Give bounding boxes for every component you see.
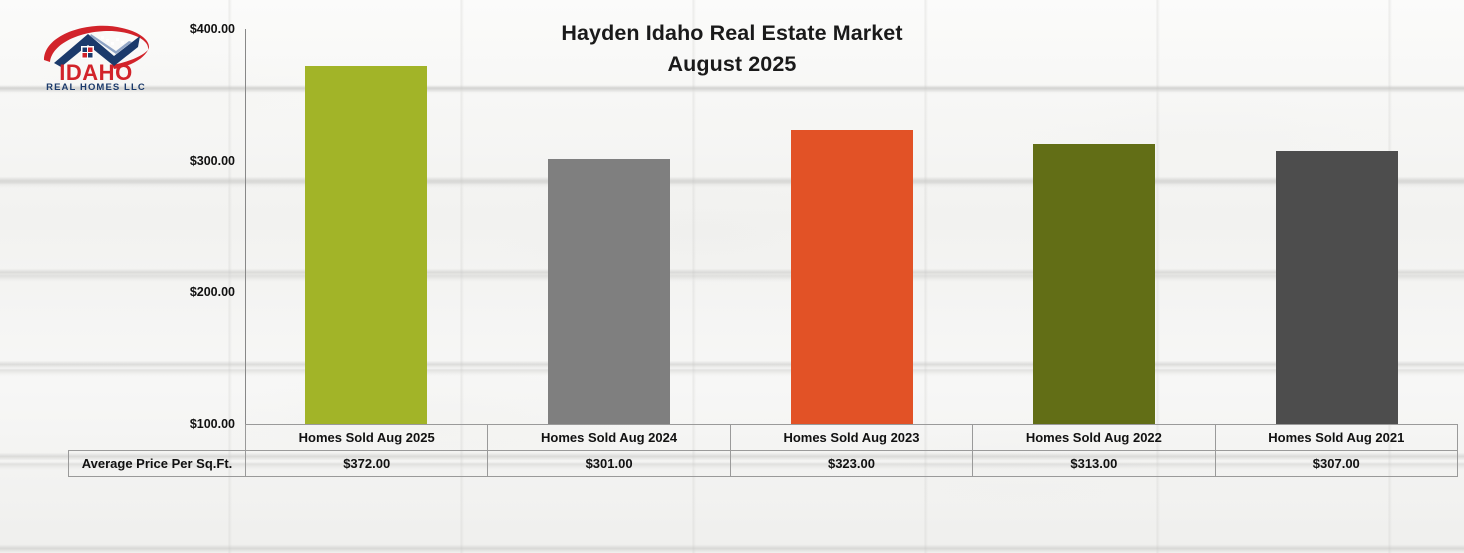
table-value-cell: $307.00 [1215, 451, 1457, 477]
table-column-header: Homes Sold Aug 2023 [730, 425, 972, 451]
y-axis-tick-label: $400.00 [157, 22, 235, 36]
bar-homes-sold-aug-2024 [548, 159, 670, 424]
table-value-cell: $301.00 [488, 451, 730, 477]
table-column-header: Homes Sold Aug 2022 [973, 425, 1215, 451]
data-table-body: Homes Sold Aug 2025Homes Sold Aug 2024Ho… [69, 425, 1458, 477]
logo-secondary-text: REAL HOMES LLC [46, 82, 146, 92]
house-window-icon [81, 46, 94, 59]
bar-homes-sold-aug-2022 [1033, 144, 1155, 424]
table-corner-cell [69, 425, 246, 451]
bar-homes-sold-aug-2023 [791, 130, 913, 424]
chart-container: IDAHO REAL HOMES LLC Hayden Idaho Real E… [0, 0, 1464, 553]
plot-area [245, 29, 1458, 424]
company-logo: IDAHO REAL HOMES LLC [28, 16, 164, 92]
table-value-row: Average Price Per Sq.Ft. $372.00$301.00$… [69, 451, 1458, 477]
y-axis-tick-label: $300.00 [157, 154, 235, 168]
bar-homes-sold-aug-2021 [1276, 151, 1398, 424]
bar-homes-sold-aug-2025 [305, 66, 427, 424]
idaho-real-homes-logo-icon: IDAHO REAL HOMES LLC [28, 16, 164, 92]
table-column-header: Homes Sold Aug 2025 [246, 425, 488, 451]
data-table: Homes Sold Aug 2025Homes Sold Aug 2024Ho… [68, 424, 1458, 477]
table-column-header: Homes Sold Aug 2021 [1215, 425, 1457, 451]
table-value-cell: $323.00 [730, 451, 972, 477]
table-value-cell: $372.00 [246, 451, 488, 477]
y-axis-tick-label: $200.00 [157, 285, 235, 299]
table-value-cell: $313.00 [973, 451, 1215, 477]
table-row-label: Average Price Per Sq.Ft. [69, 451, 246, 477]
table-header-row: Homes Sold Aug 2025Homes Sold Aug 2024Ho… [69, 425, 1458, 451]
table-column-header: Homes Sold Aug 2024 [488, 425, 730, 451]
